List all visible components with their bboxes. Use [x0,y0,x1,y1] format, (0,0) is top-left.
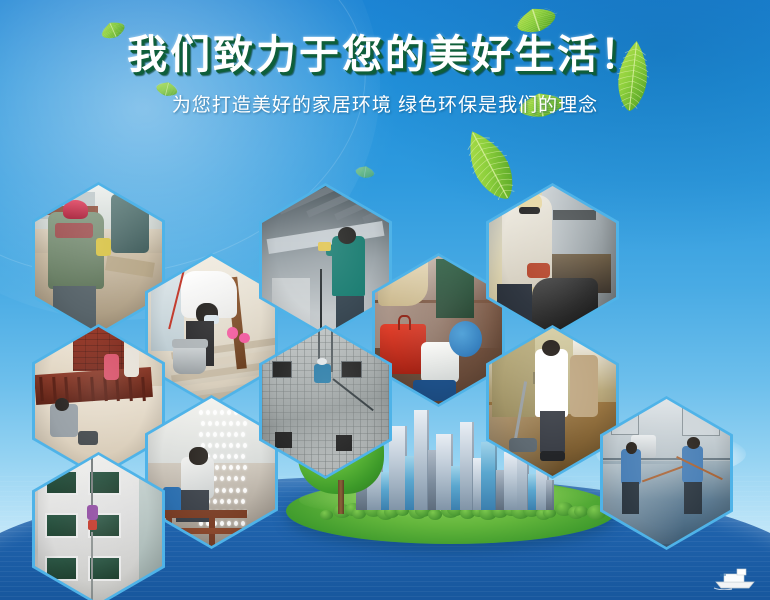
promo-banner: 我们致力于您的美好生活！ 为您打造美好的家居环境 绿色环保是我们的理念 [0,0,770,600]
photo-vignette [375,256,502,404]
hex-photo-image [35,455,162,600]
hex-inner [489,328,616,476]
hex-inner [148,398,275,546]
photo-vignette [148,256,275,404]
hex-photo-image [35,185,162,333]
hex-inner [35,185,162,333]
hex-photo-image [603,399,730,547]
hex-photo-image [148,398,275,546]
photo-vignette [489,186,616,334]
hex-photo-image [148,256,275,404]
photo-vignette [148,398,275,546]
photo-vignette [262,328,389,476]
hex-photo-image [489,186,616,334]
crystal-bead [241,410,245,415]
hex-inner [262,328,389,476]
photo-vignette [35,455,162,600]
hex-inner [489,186,616,334]
hex-inner [35,455,162,600]
hex-photo-floor-polishing[interactable] [486,325,619,479]
photo-vignette [489,328,616,476]
hex-photo-image [375,256,502,404]
hex-photo-image [262,328,389,476]
photo-vignette [603,399,730,547]
hex-inner [262,186,389,334]
hex-inner [148,256,275,404]
page-title: 我们致力于您的美好生活！ [0,34,770,76]
hex-photo-rooftop-washing[interactable] [600,396,733,550]
hex-inner [375,256,502,404]
hex-photo-kitchen-hood[interactable] [486,183,619,337]
hex-photo-image [262,186,389,334]
hex-photo-image [489,328,616,476]
hex-inner [603,399,730,547]
photo-vignette [262,186,389,334]
photo-vignette [35,185,162,333]
page-subtitle: 为您打造美好的家居环境 绿色环保是我们的理念 [0,90,770,117]
headings: 我们致力于您的美好生活！ 为您打造美好的家居环境 绿色环保是我们的理念 [0,0,770,117]
